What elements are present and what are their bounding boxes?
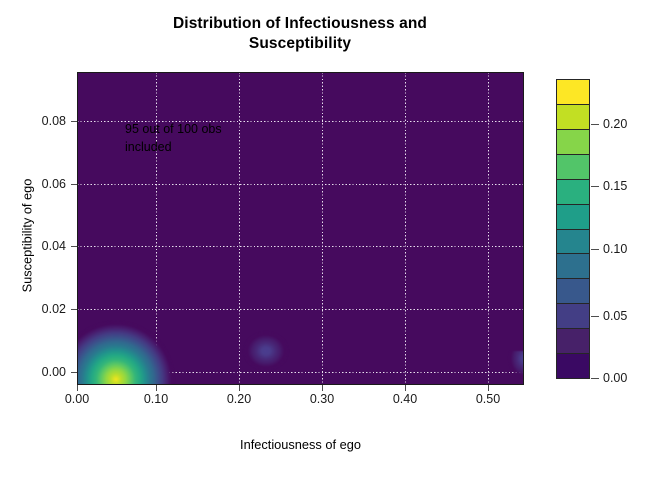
colorbar-band-8 — [556, 154, 590, 179]
xtick-label-1: 0.10 — [144, 392, 168, 406]
gridline-y-0.04 — [77, 246, 524, 247]
gridline-y-0.02 — [77, 309, 524, 310]
gridline-y-0.00 — [77, 372, 524, 373]
colorbar — [556, 79, 590, 379]
xtick-label-0: 0.00 — [65, 392, 89, 406]
gridline-x-0.30 — [322, 72, 323, 385]
colorbar-label-0.00: 0.00 — [603, 371, 627, 385]
ytick-mark-4 — [71, 121, 77, 122]
colorbar-band-10 — [556, 104, 590, 129]
colorbar-band-2 — [556, 303, 590, 328]
colorbar-label-0.20: 0.20 — [603, 117, 627, 131]
colorbar-band-11 — [556, 79, 590, 104]
annotation-line-1: 95 out of 100 obs — [125, 120, 275, 138]
chart-title-line-1: Distribution of Infectiousness and — [70, 14, 530, 34]
xtick-mark-1 — [156, 385, 157, 391]
xtick-mark-3 — [322, 385, 323, 391]
gridline-y-0.06 — [77, 184, 524, 185]
gridline-x-0.20 — [239, 72, 240, 385]
gridline-x-0.50 — [488, 72, 489, 385]
xtick-mark-2 — [239, 385, 240, 391]
density-blob-primary — [77, 311, 195, 385]
chart-title: Distribution of Infectiousness and Susce… — [70, 14, 530, 55]
colorbar-tick-0.00 — [591, 378, 599, 379]
colorbar-band-9 — [556, 129, 590, 154]
ytick-mark-3 — [71, 184, 77, 185]
colorbar-band-0 — [556, 353, 590, 379]
xtick-label-5: 0.50 — [476, 392, 500, 406]
gridline-x-0.10 — [156, 72, 157, 385]
colorbar-tick-0.05 — [591, 316, 599, 317]
colorbar-band-7 — [556, 179, 590, 204]
ytick-mark-2 — [71, 246, 77, 247]
chart-figure: Distribution of Infectiousness and Susce… — [0, 0, 672, 480]
annotation-line-2: included — [125, 138, 275, 156]
colorbar-band-4 — [556, 253, 590, 278]
xtick-mark-5 — [488, 385, 489, 391]
xtick-mark-4 — [405, 385, 406, 391]
plot-panel: 95 out of 100 obs included — [77, 72, 524, 385]
ytick-mark-1 — [71, 309, 77, 310]
colorbar-tick-0.15 — [591, 186, 599, 187]
colorbar-band-1 — [556, 328, 590, 353]
x-axis-title: Infectiousness of ego — [77, 437, 524, 452]
xtick-label-4: 0.40 — [393, 392, 417, 406]
colorbar-label-0.10: 0.10 — [603, 242, 627, 256]
xtick-label-2: 0.20 — [227, 392, 251, 406]
colorbar-tick-0.20 — [591, 124, 599, 125]
colorbar-band-5 — [556, 229, 590, 254]
density-blob-secondary — [243, 331, 289, 371]
ytick-mark-0 — [71, 372, 77, 373]
xtick-label-3: 0.30 — [310, 392, 334, 406]
xtick-mark-0 — [77, 385, 78, 391]
colorbar-label-0.05: 0.05 — [603, 309, 627, 323]
gridline-x-0.40 — [405, 72, 406, 385]
chart-title-line-2: Susceptibility — [70, 34, 530, 54]
y-axis-title: Susceptibility of ego — [20, 116, 35, 356]
colorbar-tick-0.10 — [591, 249, 599, 250]
colorbar-band-3 — [556, 278, 590, 303]
obs-included-annotation: 95 out of 100 obs included — [125, 120, 275, 156]
ytick-label-0: 0.00 — [26, 365, 66, 379]
density-blob-edge — [506, 351, 524, 385]
colorbar-label-0.15: 0.15 — [603, 179, 627, 193]
colorbar-band-6 — [556, 204, 590, 229]
